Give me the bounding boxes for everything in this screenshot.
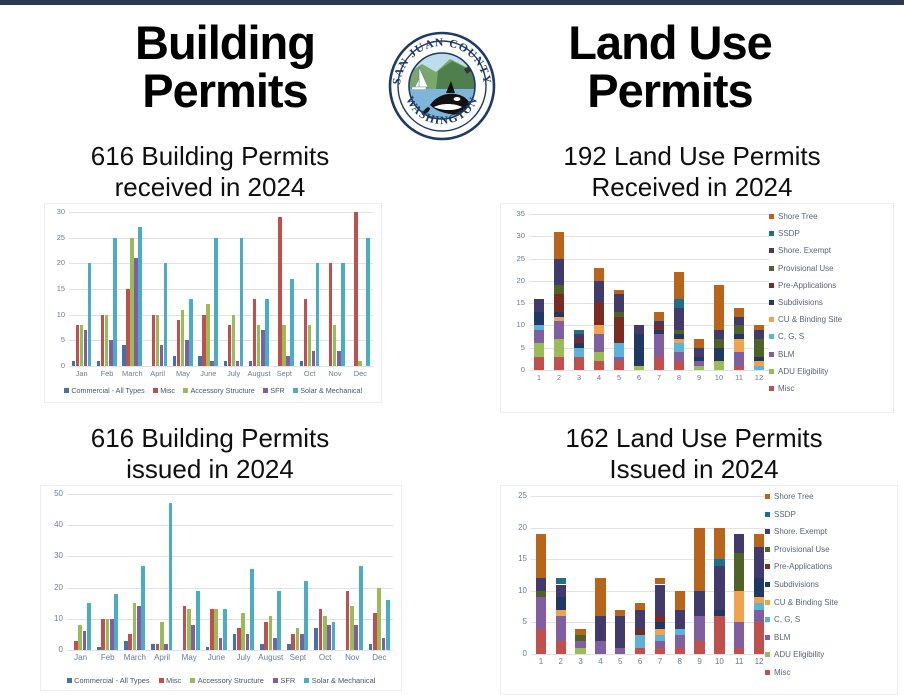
- legend-item[interactable]: Solar & Mechanical: [304, 676, 375, 685]
- bar-segment: [734, 534, 744, 553]
- gridline: [67, 556, 393, 557]
- bar-segment: [694, 339, 704, 348]
- plot-area: 05101520253035123456789101112Shore TreeS…: [500, 203, 894, 413]
- bar: [80, 325, 83, 366]
- chart-title-line: Issued in 2024: [492, 454, 896, 485]
- bar: [241, 613, 245, 650]
- bar: [382, 638, 386, 650]
- x-axis-tick: 4: [589, 373, 609, 382]
- bar: [308, 325, 311, 366]
- legend-swatch-icon: [263, 388, 268, 393]
- bar: [177, 320, 180, 366]
- plot-area: 0510152025123456789101112Shore TreeSSDPS…: [500, 485, 898, 695]
- legend-label: Provisional Use: [778, 264, 834, 273]
- bar: [152, 315, 155, 366]
- legend-swatch-icon: [153, 388, 158, 393]
- bar-segment: [654, 357, 664, 370]
- gridline: [67, 494, 393, 495]
- bar-segment: [575, 629, 585, 635]
- legend-label: Provisional Use: [774, 545, 830, 554]
- x-axis-tick: 10: [709, 373, 729, 382]
- legend-item[interactable]: Shore Tree: [769, 212, 842, 221]
- legend-item[interactable]: CU & Binding Site: [769, 315, 842, 324]
- x-axis-tick: 12: [749, 373, 769, 382]
- y-axis-tick: 0: [501, 366, 525, 374]
- bar: [206, 647, 210, 650]
- bar: [260, 644, 264, 650]
- legend-label: BLM: [778, 350, 794, 359]
- bar: [366, 238, 369, 366]
- x-axis-tick: June: [196, 369, 221, 378]
- x-axis-tick: July: [230, 653, 257, 662]
- legend-item[interactable]: C, G, S: [769, 332, 842, 341]
- bar: [109, 340, 112, 366]
- bar-segment: [554, 317, 564, 321]
- legend-swatch-icon: [293, 388, 298, 393]
- bar: [106, 619, 110, 650]
- bar-segment: [734, 591, 744, 623]
- bar-segment: [734, 352, 744, 365]
- bar: [291, 634, 295, 650]
- y-axis-tick: 5: [501, 344, 525, 352]
- bar: [264, 622, 268, 650]
- chart-title-line: received in 2024: [20, 172, 400, 203]
- bar: [332, 622, 336, 650]
- legend-item[interactable]: Misc: [153, 386, 175, 395]
- x-axis-tick: 6: [630, 657, 650, 666]
- bar: [341, 263, 344, 366]
- legend-label: Solar & Mechanical: [312, 676, 376, 685]
- y-axis-tick: 40: [41, 521, 63, 529]
- legend-item[interactable]: Shore Tree: [765, 492, 838, 501]
- y-axis-tick: 30: [45, 208, 65, 216]
- gridline: [529, 259, 769, 260]
- bar: [151, 644, 155, 650]
- bar: [74, 641, 78, 650]
- bar-segment: [714, 616, 724, 654]
- legend-item[interactable]: Misc: [765, 668, 838, 677]
- legend-label: CU & Binding Site: [778, 315, 842, 324]
- y-axis-tick: 25: [501, 255, 525, 263]
- bar: [87, 603, 91, 650]
- bar: [88, 263, 91, 366]
- bar: [138, 227, 141, 366]
- legend-label: Pre-Applications: [774, 562, 832, 571]
- bar: [224, 361, 227, 366]
- x-axis-tick: June: [203, 653, 230, 662]
- legend-swatch-icon: [769, 317, 774, 322]
- x-axis-tick: 5: [610, 657, 630, 666]
- chart-title-line: 616 Building Permits: [14, 423, 406, 454]
- legend-item[interactable]: Shore. Exempt: [769, 246, 842, 255]
- bar-segment: [595, 578, 605, 616]
- bar-segment: [694, 616, 704, 641]
- chart-title: 616 Building Permitsreceived in 2024: [20, 141, 400, 203]
- bar: [198, 356, 201, 366]
- bar-segment: [754, 330, 764, 339]
- legend-label: ADU Eligibility: [774, 650, 824, 659]
- y-axis-tick: 15: [45, 285, 65, 293]
- bar: [386, 600, 390, 650]
- bar: [287, 644, 291, 650]
- bar-segment: [556, 597, 566, 610]
- bar-segment: [714, 361, 724, 370]
- legend-swatch-icon: [304, 678, 309, 683]
- y-axis-tick: 25: [501, 492, 527, 500]
- bar: [354, 625, 358, 650]
- gridline: [529, 281, 769, 282]
- bar-segment: [754, 534, 764, 547]
- bar-segment: [674, 361, 684, 370]
- bar-segment: [594, 334, 604, 352]
- y-axis-tick: 10: [41, 615, 63, 623]
- x-axis-tick: 11: [729, 373, 749, 382]
- bar: [113, 238, 116, 366]
- bar-segment: [754, 357, 764, 361]
- bar: [187, 609, 191, 650]
- bar-segment: [674, 343, 684, 352]
- legend-item[interactable]: Accessory Structure: [190, 676, 264, 685]
- bar-segment: [675, 610, 685, 629]
- bar-segment: [556, 578, 566, 584]
- legend-swatch-icon: [769, 266, 774, 271]
- bar-segment: [536, 597, 546, 629]
- x-axis-tick: 2: [549, 373, 569, 382]
- legend-label: Accessory Structure: [198, 676, 264, 685]
- chart-legend: Shore TreeSSDPShore. ExemptProvisional U…: [769, 212, 842, 401]
- bar-segment: [654, 330, 664, 334]
- legend-item[interactable]: CU & Binding Site: [765, 598, 838, 607]
- bar-segment: [734, 553, 744, 591]
- bar-segment: [594, 303, 604, 325]
- x-axis-tick: Oct: [312, 653, 339, 662]
- x-axis-tick: April: [149, 653, 176, 662]
- legend-swatch-icon: [765, 652, 770, 657]
- bar: [110, 619, 114, 650]
- bar: [133, 603, 137, 650]
- bar-segment: [714, 330, 724, 339]
- legend-item[interactable]: SSDP: [765, 510, 838, 519]
- bar: [333, 325, 336, 366]
- bar-segment: [674, 352, 684, 361]
- bar-segment: [655, 648, 665, 654]
- bar-segment: [654, 321, 664, 325]
- bar-segment: [655, 616, 665, 622]
- x-axis-tick: 6: [629, 373, 649, 382]
- legend-item[interactable]: Provisional Use: [765, 545, 838, 554]
- y-axis-tick: 0: [45, 362, 65, 370]
- bar: [137, 606, 141, 650]
- bar: [210, 361, 213, 366]
- chart-legend: Shore TreeSSDPShore. ExemptProvisional U…: [765, 492, 838, 686]
- legend-item[interactable]: BLM: [765, 633, 838, 642]
- bar-segment: [734, 334, 744, 338]
- bar: [337, 351, 340, 366]
- bar-segment: [654, 312, 664, 321]
- bar-segment: [575, 648, 585, 654]
- bar-segment: [574, 334, 584, 338]
- x-axis-tick: 9: [689, 373, 709, 382]
- bar-segment: [694, 641, 704, 654]
- legend-item[interactable]: Misc: [769, 384, 842, 393]
- bar-segment: [615, 610, 625, 616]
- legend-item[interactable]: Provisional Use: [769, 264, 842, 273]
- bar-segment: [714, 559, 724, 565]
- legend-label: Shore Tree: [774, 492, 814, 501]
- bar-segment: [634, 325, 644, 334]
- legend-swatch-icon: [769, 300, 774, 305]
- bar-segment: [754, 578, 764, 597]
- x-axis-tick: 8: [669, 373, 689, 382]
- bar-segment: [534, 312, 544, 325]
- chart-panel-landuse-received: 192 Land Use PermitsReceived in 20240510…: [492, 141, 892, 419]
- x-axis-tick: 9: [690, 657, 710, 666]
- legend-label: Misc: [774, 668, 790, 677]
- legend-label: SFR: [280, 676, 295, 685]
- gridline: [69, 212, 373, 213]
- bar-segment: [655, 622, 665, 628]
- chart-title-line: 616 Building Permits: [20, 141, 400, 172]
- legend-label: Misc: [166, 676, 181, 685]
- legend-swatch-icon: [765, 564, 770, 569]
- bar: [223, 609, 227, 650]
- x-axis-tick: April: [145, 369, 170, 378]
- legend-item[interactable]: Subdivisions: [765, 580, 838, 589]
- legend-swatch-icon: [765, 670, 770, 675]
- legend-item[interactable]: SFR: [263, 386, 285, 395]
- y-axis-tick: 5: [45, 336, 65, 344]
- bar: [206, 304, 209, 366]
- legend-label: CU & Binding Site: [774, 598, 838, 607]
- gridline: [529, 214, 769, 215]
- bar-segment: [694, 528, 704, 591]
- bar-segment: [754, 610, 764, 623]
- bar-segment: [754, 597, 764, 603]
- bar-segment: [635, 629, 645, 635]
- x-axis-tick: Nov: [339, 653, 366, 662]
- bar: [312, 351, 315, 366]
- x-axis-tick: Sept: [272, 369, 297, 378]
- bar-segment: [595, 616, 605, 641]
- x-axis-tick: 2: [551, 657, 571, 666]
- legend-label: C, G, S: [774, 615, 800, 624]
- bar-segment: [675, 648, 685, 654]
- bar: [240, 238, 243, 366]
- bar: [319, 609, 323, 650]
- x-axis-tick: Jan: [69, 369, 94, 378]
- bar: [183, 606, 187, 650]
- x-axis-tick: 3: [569, 373, 589, 382]
- x-axis-tick: Jan: [67, 653, 94, 662]
- legend-item[interactable]: SFR: [273, 676, 295, 685]
- legend-item[interactable]: ADU Eligibility: [769, 367, 842, 376]
- legend-item[interactable]: ADU Eligibility: [765, 650, 838, 659]
- bar: [257, 325, 260, 366]
- bar: [83, 631, 87, 650]
- bar: [346, 591, 350, 650]
- legend-swatch-icon: [765, 600, 770, 605]
- bar-segment: [674, 272, 684, 299]
- bar: [233, 634, 237, 650]
- bar-segment: [554, 285, 564, 294]
- bar-segment: [635, 603, 645, 609]
- legend-item[interactable]: Commercial - All Types: [67, 676, 150, 685]
- chart-title: 192 Land Use PermitsReceived in 2024: [492, 141, 892, 203]
- bar-segment: [574, 348, 584, 357]
- chart-legend: Commercial - All TypesMiscAccessory Stru…: [45, 386, 381, 395]
- bar: [164, 263, 167, 366]
- bar-segment: [655, 629, 665, 635]
- x-axis-tick: 1: [529, 373, 549, 382]
- y-axis-tick: 0: [501, 650, 527, 658]
- bar-segment: [575, 641, 585, 647]
- bar-segment: [594, 352, 604, 361]
- bar: [277, 591, 281, 650]
- bar-segment: [536, 591, 546, 597]
- bar: [327, 625, 331, 650]
- legend-item[interactable]: BLM: [769, 350, 842, 359]
- legend-label: Pre-Applications: [778, 281, 836, 290]
- page-title-land-use-permits: Land Use Permits: [520, 19, 820, 115]
- bar: [128, 634, 132, 650]
- bar: [219, 638, 223, 650]
- bar: [253, 299, 256, 366]
- x-axis-tick: Feb: [94, 653, 121, 662]
- chart-title: 162 Land Use PermitsIssued in 2024: [492, 423, 896, 485]
- bar-segment: [634, 366, 644, 370]
- bar: [249, 361, 252, 366]
- bar-segment: [574, 357, 584, 370]
- bar: [122, 345, 125, 366]
- bar: [250, 569, 254, 650]
- bar-segment: [554, 259, 564, 286]
- bar: [124, 641, 128, 650]
- bar: [269, 616, 273, 650]
- legend-swatch-icon: [769, 214, 774, 219]
- bar: [273, 638, 277, 650]
- legend-label: Subdivisions: [774, 580, 819, 589]
- legend-item[interactable]: SSDP: [769, 229, 842, 238]
- legend-swatch-icon: [67, 678, 72, 683]
- legend-label: Commercial - All Types: [74, 676, 149, 685]
- bar-segment: [614, 343, 624, 356]
- legend-item[interactable]: Pre-Applications: [765, 562, 838, 571]
- bar-segment: [634, 334, 644, 365]
- bar: [232, 315, 235, 366]
- legend-item[interactable]: Misc: [159, 676, 182, 685]
- legend-swatch-icon: [64, 388, 69, 393]
- bar-segment: [635, 610, 645, 629]
- gridline: [531, 654, 769, 655]
- legend-swatch-icon: [769, 334, 774, 339]
- bar-segment: [674, 299, 684, 308]
- legend-item[interactable]: Accessory Structure: [183, 386, 255, 395]
- x-axis-tick: Sept: [284, 653, 311, 662]
- bar: [316, 263, 319, 366]
- bar: [160, 345, 163, 366]
- y-axis-tick: 20: [45, 259, 65, 267]
- bar: [228, 325, 231, 366]
- y-axis-tick: 20: [501, 277, 525, 285]
- x-axis-tick: 4: [591, 657, 611, 666]
- legend-swatch-icon: [769, 386, 774, 391]
- bar: [164, 644, 168, 650]
- x-axis-tick: 1: [531, 657, 551, 666]
- bar-segment: [655, 641, 665, 647]
- bar-segment: [714, 285, 724, 330]
- chart-legend: Commercial - All TypesMiscAccessory Stru…: [41, 676, 401, 685]
- bar-segment: [654, 325, 664, 329]
- bar-segment: [754, 622, 764, 654]
- bar-segment: [714, 528, 724, 560]
- bar-segment: [714, 566, 724, 610]
- bar-segment: [574, 339, 584, 343]
- bar: [265, 299, 268, 366]
- bar: [78, 625, 82, 650]
- bar: [290, 279, 293, 366]
- bar-segment: [694, 348, 704, 357]
- legend-label: Accessory Structure: [191, 386, 255, 395]
- bar: [156, 644, 160, 650]
- x-axis-tick: Nov: [322, 369, 347, 378]
- page-title-building-permits: Building Permits: [75, 19, 375, 115]
- legend-swatch-icon: [273, 678, 278, 683]
- gridline: [531, 496, 769, 497]
- bar-segment: [674, 308, 684, 330]
- legend-item[interactable]: Shore. Exempt: [765, 527, 838, 536]
- bar: [236, 361, 239, 366]
- legend-swatch-icon: [765, 582, 770, 587]
- bar-segment: [556, 616, 566, 641]
- bar-segment: [614, 361, 624, 370]
- bar-segment: [694, 357, 704, 361]
- bar-segment: [534, 325, 544, 329]
- bar-segment: [754, 361, 764, 365]
- legend-label: SFR: [270, 386, 284, 395]
- chart-panel-building-issued: 616 Building Permitsissued in 2024010203…: [14, 423, 406, 695]
- bar-segment: [655, 578, 665, 584]
- y-axis-tick: 5: [501, 618, 527, 626]
- bar: [358, 361, 361, 366]
- legend-item[interactable]: Subdivisions: [769, 298, 842, 307]
- bar: [185, 340, 188, 366]
- y-axis-tick: 35: [501, 210, 525, 218]
- x-axis-tick: August: [246, 369, 271, 378]
- legend-swatch-icon: [765, 547, 770, 552]
- bar-segment: [536, 578, 546, 591]
- legend-item[interactable]: C, G, S: [765, 615, 838, 624]
- bar: [323, 616, 327, 650]
- legend-label: Shore. Exempt: [778, 246, 831, 255]
- bar: [210, 609, 214, 650]
- legend-swatch-icon: [765, 512, 770, 517]
- bar-segment: [574, 330, 584, 334]
- bar-segment: [536, 534, 546, 578]
- bar: [181, 310, 184, 366]
- bar-segment: [595, 641, 605, 654]
- x-axis-tick: 10: [710, 657, 730, 666]
- x-axis-tick: May: [176, 653, 203, 662]
- legend-label: Shore. Exempt: [774, 527, 827, 536]
- legend-label: SSDP: [774, 510, 796, 519]
- legend-item[interactable]: Solar & Mechanical: [293, 386, 362, 395]
- legend-item[interactable]: Commercial - All Types: [64, 386, 145, 395]
- legend-item[interactable]: Pre-Applications: [769, 281, 842, 290]
- bar-segment: [734, 648, 744, 654]
- bar-segment: [534, 343, 544, 356]
- x-axis-tick: Dec: [366, 653, 393, 662]
- bar: [130, 238, 133, 366]
